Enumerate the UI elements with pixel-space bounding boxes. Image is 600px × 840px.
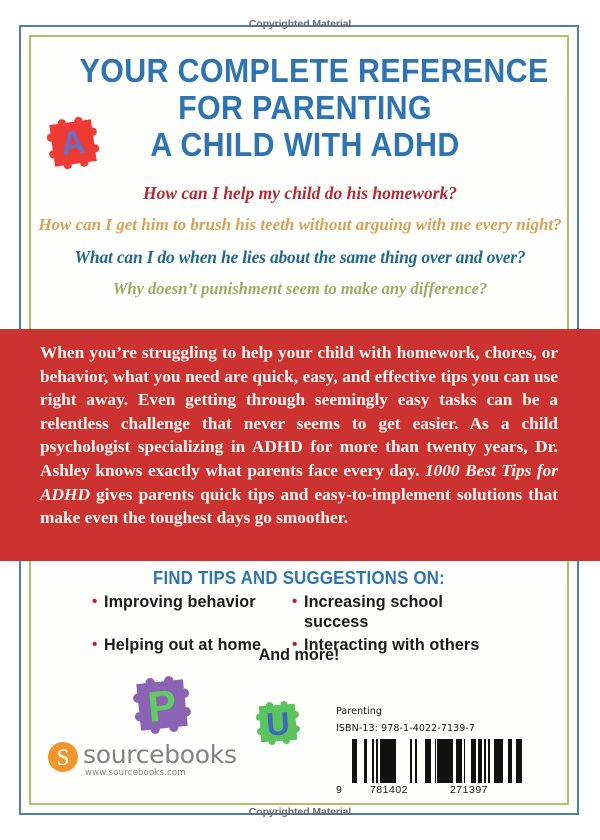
bullet-item: • Increasing school success — [292, 592, 522, 632]
blurb-part-2: gives parents quick tips and easy-to-imp… — [40, 485, 558, 528]
and-more-label: And more! — [43, 645, 554, 665]
blurb-part-1: When you’re struggling to help your chil… — [40, 343, 558, 480]
barcode-digit-group-2: 271397 — [429, 784, 509, 796]
sourcebooks-logo[interactable]: S sourcebooks www.sourcebooks.com — [48, 742, 237, 778]
barcode-digit-group-1: 781402 — [349, 784, 429, 796]
sourcebooks-wordmark: sourcebooks www.sourcebooks.com — [83, 742, 237, 778]
barcode-block: Parenting ISBN-13: 978-1-4022-7139-7 9 7… — [336, 706, 523, 796]
copyright-notice-top: Copyrighted Material — [0, 18, 600, 30]
back-cover-blurb: When you’re struggling to help your chil… — [40, 341, 558, 530]
svg-text:A: A — [59, 124, 88, 164]
bullet-label: Increasing school success — [304, 592, 511, 632]
headline-line-1: YOUR COMPLETE REFERENCE — [80, 52, 531, 89]
bullet-dot-icon: • — [292, 594, 297, 609]
barcode-digit-lead: 9 — [336, 784, 349, 796]
book-category: Parenting — [336, 706, 523, 717]
question-4: Why doesn’t punishment seem to make any … — [32, 278, 568, 300]
question-list: How can I help my child do his homework?… — [32, 182, 568, 299]
sourcebooks-mark-icon: S — [48, 742, 78, 772]
find-tips-heading: FIND TIPS AND SUGGESTIONS ON: — [49, 568, 549, 589]
question-3: What can I do when he lies about the sam… — [32, 246, 568, 269]
cover-headline: YOUR COMPLETE REFERENCE FOR PARENTING A … — [60, 52, 550, 163]
bullet-label: Improving behavior — [104, 592, 256, 612]
copyright-notice-bottom: Copyrighted Material — [0, 806, 600, 818]
barcode-digits: 9 781402 271397 — [336, 784, 523, 796]
question-2: How can I get him to brush his teeth wit… — [32, 214, 568, 236]
puzzle-piece-u-icon: U — [248, 693, 308, 753]
headline-line-2: FOR PARENTING — [80, 89, 531, 126]
puzzle-piece-p-icon: P — [123, 666, 201, 744]
headline-line-3: A CHILD WITH ADHD — [80, 126, 531, 163]
isbn-number: ISBN-13: 978-1-4022-7139-7 — [336, 723, 523, 734]
bullet-item: • Improving behavior — [92, 592, 292, 632]
question-1: How can I help my child do his homework? — [32, 182, 568, 205]
publisher-url[interactable]: www.sourcebooks.com — [85, 768, 237, 778]
svg-text:P: P — [145, 681, 178, 732]
book-back-cover: Copyrighted Material YOUR COMPLETE REFER… — [0, 0, 600, 840]
svg-text:U: U — [265, 705, 291, 743]
publisher-name: sourcebooks — [83, 742, 237, 767]
barcode-bars — [349, 739, 523, 783]
puzzle-piece-a-icon: A — [38, 108, 108, 178]
bullet-dot-icon: • — [92, 594, 97, 609]
